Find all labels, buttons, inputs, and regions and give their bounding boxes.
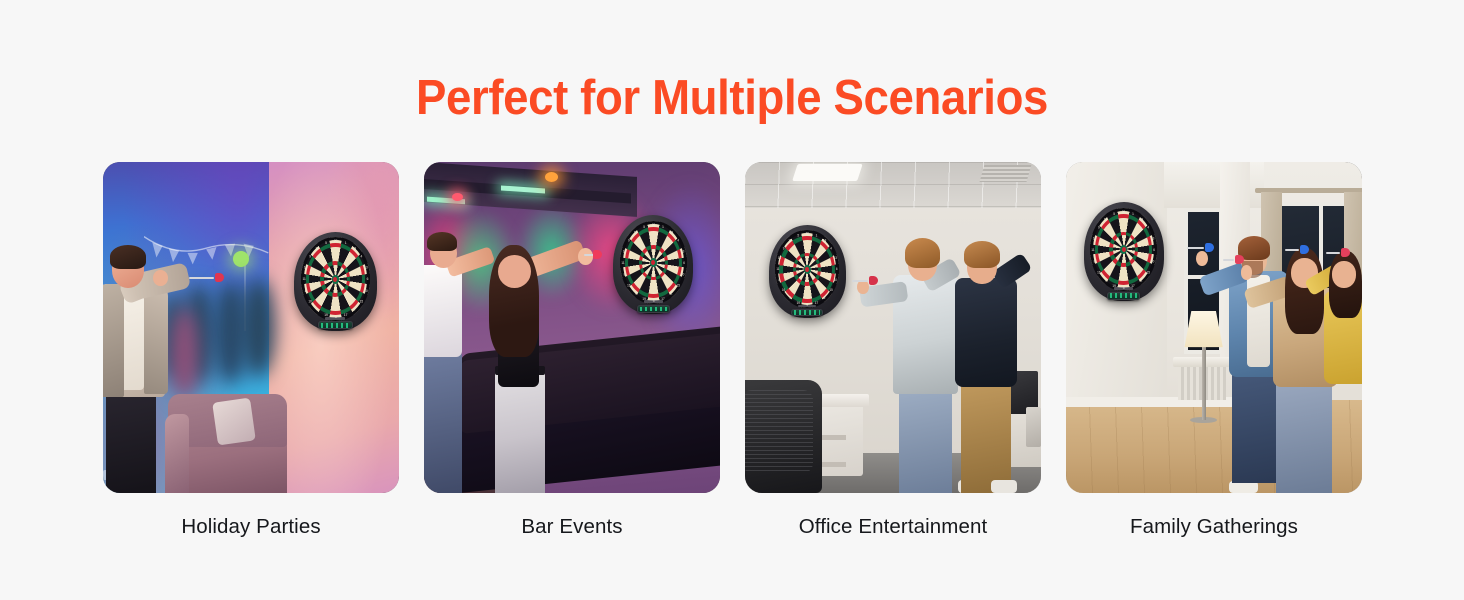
svg-text:19: 19 — [642, 297, 645, 301]
svg-text:10: 10 — [364, 289, 368, 293]
person-jacket-left — [103, 284, 124, 397]
crowd-silhouette — [242, 278, 275, 377]
crowd-silhouette — [171, 308, 198, 401]
svg-text:16: 16 — [782, 288, 785, 292]
svg-text:16: 16 — [308, 300, 312, 304]
svg-text:19: 19 — [1113, 283, 1116, 287]
scenario-photo-family-gatherings: 2011841361015217319716811149125 — [1066, 162, 1362, 493]
svg-text:19: 19 — [324, 313, 328, 317]
svg-text:2: 2 — [353, 308, 355, 312]
svg-text:11: 11 — [776, 267, 779, 271]
svg-text:20: 20 — [805, 232, 808, 236]
person-jeans — [899, 387, 952, 493]
scenario-card-holiday-parties[interactable]: 2011841361015217319716811149125 Holiday … — [103, 162, 399, 493]
person-shoe — [1229, 481, 1259, 493]
svg-text:17: 17 — [343, 313, 347, 317]
person-hair — [905, 238, 941, 268]
svg-text:5: 5 — [643, 225, 645, 229]
svg-text:15: 15 — [359, 300, 363, 304]
svg-text:16: 16 — [627, 283, 630, 287]
svg-text:13: 13 — [681, 249, 684, 253]
svg-text:3: 3 — [1123, 285, 1125, 289]
scenario-photo-holiday-parties: 2011841361015217319716811149125 — [103, 162, 399, 493]
svg-text:19: 19 — [796, 301, 799, 305]
svg-text:20: 20 — [652, 223, 655, 227]
person-hand — [153, 270, 168, 287]
svg-text:8: 8 — [304, 289, 306, 293]
electronic-dartboard: 2011841361015217319716811149125 — [769, 225, 846, 318]
svg-text:2: 2 — [670, 291, 672, 295]
svg-text:2: 2 — [824, 296, 826, 300]
svg-text:5: 5 — [1113, 211, 1115, 215]
svg-text:17: 17 — [661, 297, 664, 301]
svg-text:8: 8 — [778, 278, 780, 282]
svg-text:9: 9 — [783, 247, 785, 251]
svg-text:6: 6 — [1153, 247, 1155, 251]
electronic-dartboard: 2011841361015217319716811149125 — [613, 215, 693, 314]
person-hand — [1241, 265, 1253, 280]
svg-text:7: 7 — [635, 291, 637, 295]
svg-text:2: 2 — [1141, 278, 1143, 282]
ceiling-light-panel — [793, 164, 863, 181]
svg-text:3: 3 — [806, 303, 808, 307]
scenario-card-grid: 2011841361015217319716811149125 Holiday … — [103, 162, 1373, 493]
dartboard-lcd-display — [637, 305, 671, 313]
dartboard-lcd-display — [791, 309, 823, 316]
person-trousers — [961, 380, 1011, 493]
dart-in-flight — [189, 273, 225, 282]
dartboard-lcd-display — [318, 321, 353, 329]
floor-lamp-pole — [1202, 347, 1206, 420]
svg-text:13: 13 — [833, 256, 836, 260]
scenario-card-family-gatherings[interactable]: 2011841361015217319716811149125 — [1066, 162, 1362, 493]
dart-in-hand — [1187, 243, 1214, 252]
svg-text:4: 4 — [677, 238, 679, 242]
svg-text:16: 16 — [1097, 270, 1100, 274]
svg-text:13: 13 — [1151, 236, 1154, 240]
svg-text:4: 4 — [1148, 225, 1150, 229]
svg-text:17: 17 — [1131, 283, 1134, 287]
scenario-caption: Bar Events — [424, 514, 720, 540]
svg-text:13: 13 — [364, 266, 368, 270]
person-sweater — [955, 278, 1017, 387]
scenarios-banner: Perfect for Multiple Scenarios — [0, 0, 1464, 600]
svg-text:15: 15 — [676, 283, 679, 287]
scenario-card-bar-events[interactable]: 2011841361015217319716811149125 Bar Even… — [424, 162, 720, 493]
dart-in-hand — [1285, 245, 1309, 254]
dartboard-number-ring: 2011841361015217319716811149125 — [1090, 208, 1157, 291]
svg-text:11: 11 — [621, 261, 624, 265]
svg-text:4: 4 — [830, 247, 832, 251]
svg-text:12: 12 — [788, 239, 791, 243]
svg-text:12: 12 — [634, 230, 637, 234]
svg-text:9: 9 — [1098, 225, 1100, 229]
chair-mesh-back — [745, 390, 813, 473]
svg-text:14: 14 — [623, 249, 626, 253]
scenario-caption: Holiday Parties — [103, 514, 399, 540]
svg-text:7: 7 — [789, 296, 791, 300]
svg-text:5: 5 — [325, 241, 327, 245]
dart-in-hand — [584, 250, 602, 259]
svg-text:1: 1 — [1132, 211, 1134, 215]
person-jacket-right — [144, 284, 168, 393]
svg-text:1: 1 — [662, 225, 664, 229]
svg-text:10: 10 — [833, 278, 836, 282]
svg-text:4: 4 — [360, 255, 362, 259]
scenario-photo-bar-events: 2011841361015217319716811149125 — [424, 162, 720, 493]
svg-text:6: 6 — [366, 277, 368, 281]
svg-text:18: 18 — [823, 239, 826, 243]
dartboard-number-ring: 2011841361015217319716811149125 — [301, 237, 371, 320]
svg-text:15: 15 — [1147, 270, 1150, 274]
person-hair — [427, 232, 457, 252]
svg-text:12: 12 — [315, 247, 319, 251]
cushion — [213, 398, 257, 446]
air-vent-icon — [979, 165, 1031, 182]
desktop-tower — [1026, 407, 1041, 447]
svg-text:14: 14 — [1093, 236, 1096, 240]
svg-text:8: 8 — [1094, 259, 1096, 263]
svg-text:10: 10 — [681, 272, 684, 276]
dart-in-hand — [1326, 248, 1350, 257]
svg-text:8: 8 — [623, 272, 625, 276]
svg-text:20: 20 — [334, 239, 338, 243]
person-shirt — [424, 265, 462, 358]
electronic-dartboard: 2011841361015217319716811149125 — [294, 232, 377, 331]
svg-text:17: 17 — [815, 301, 818, 305]
svg-text:3: 3 — [653, 299, 655, 303]
svg-text:1: 1 — [815, 234, 817, 238]
dart-in-hand — [852, 276, 879, 285]
svg-text:9: 9 — [309, 255, 311, 259]
svg-text:7: 7 — [1105, 278, 1107, 282]
svg-text:10: 10 — [1151, 259, 1154, 263]
svg-text:11: 11 — [302, 277, 305, 281]
svg-text:9: 9 — [628, 238, 630, 242]
svg-text:11: 11 — [1092, 247, 1095, 251]
scenario-caption: Office Entertainment — [745, 514, 1041, 540]
dartboard-lcd-display — [1107, 292, 1141, 300]
electronic-dartboard: 2011841361015217319716811149125 — [1084, 202, 1164, 301]
svg-text:14: 14 — [303, 266, 307, 270]
person-legs — [106, 387, 156, 493]
scenario-photo-office-entertainment: 2011841361015217319716811149125 — [745, 162, 1041, 493]
svg-text:5: 5 — [797, 234, 799, 238]
person-head — [498, 255, 531, 288]
svg-text:18: 18 — [670, 230, 673, 234]
svg-text:12: 12 — [1104, 217, 1107, 221]
svg-text:6: 6 — [836, 267, 838, 271]
svg-text:6: 6 — [683, 261, 685, 265]
page-title: Perfect for Multiple Scenarios — [51, 68, 1413, 128]
dartboard-number-ring: 2011841361015217319716811149125 — [620, 221, 687, 304]
dart-in-hand — [1223, 255, 1244, 264]
person-jeans — [424, 351, 462, 493]
svg-text:20: 20 — [1122, 209, 1125, 213]
svg-text:14: 14 — [778, 256, 781, 260]
svg-text:3: 3 — [334, 315, 336, 319]
person-jeans — [1232, 371, 1282, 484]
person-hair — [110, 245, 146, 268]
svg-text:18: 18 — [1140, 217, 1143, 221]
person-head — [1332, 261, 1356, 287]
person-shoe — [991, 480, 1018, 493]
svg-text:1: 1 — [344, 241, 346, 245]
scenario-caption: Family Gatherings — [1066, 514, 1362, 540]
scenario-card-office-entertainment[interactable]: 2011841361015217319716811149125 — [745, 162, 1041, 493]
sofa-arm — [165, 414, 189, 493]
person-jeans — [1276, 380, 1332, 493]
svg-text:7: 7 — [316, 308, 318, 312]
svg-text:15: 15 — [829, 288, 832, 292]
svg-text:18: 18 — [352, 247, 356, 251]
person-hair — [964, 241, 1000, 267]
